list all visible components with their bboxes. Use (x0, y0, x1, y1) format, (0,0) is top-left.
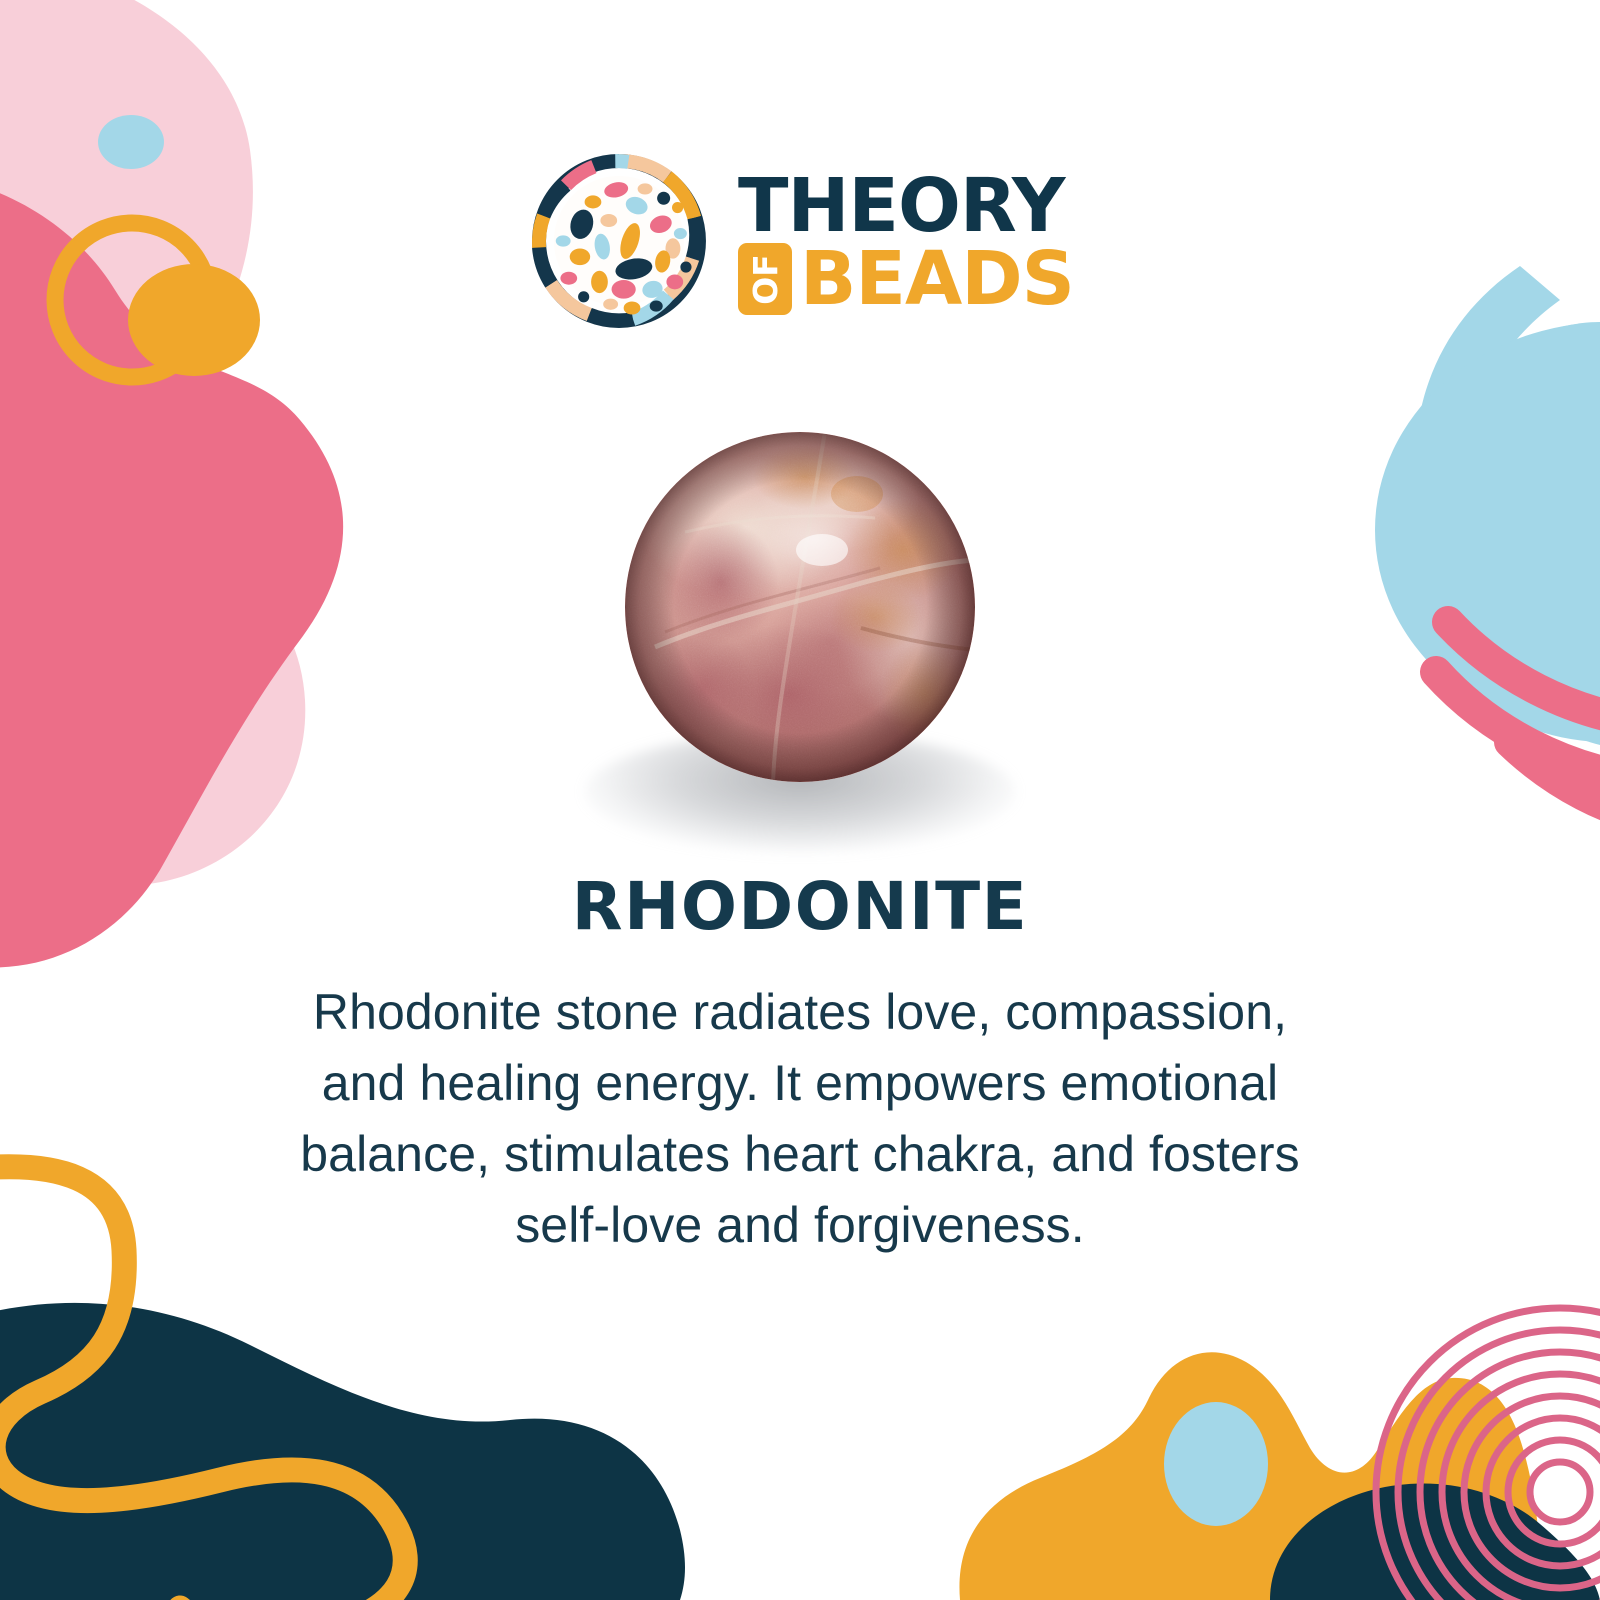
brand-of-label: OF (749, 254, 782, 305)
product-description: Rhodonite stone radiates love, compassio… (275, 977, 1325, 1261)
navy-blob-bottomright (1270, 1483, 1600, 1600)
brand-of-badge: OF (738, 243, 792, 315)
product-text-block: RHODONITE Rhodonite stone radiates love,… (250, 872, 1350, 1261)
orange-wave-blob (959, 1352, 1540, 1600)
light-blue-ellipse-bottomright (1164, 1402, 1268, 1526)
beaded-circle-logo-icon (526, 148, 712, 334)
poster-canvas: THEORY OF BEADS (0, 0, 1600, 1600)
brand-header: THEORY OF BEADS (0, 148, 1600, 334)
product-title: RHODONITE (250, 872, 1350, 941)
brand-name-beads: BEADS (800, 244, 1074, 314)
brand-name-theory: THEORY (738, 171, 1074, 241)
rhodonite-sphere-image (625, 432, 975, 782)
product-image-area (0, 432, 1600, 832)
navy-blob-bottomleft (0, 1303, 685, 1600)
brand-wordmark: THEORY OF BEADS (738, 171, 1074, 315)
pink-concentric-rings (1376, 1308, 1600, 1600)
